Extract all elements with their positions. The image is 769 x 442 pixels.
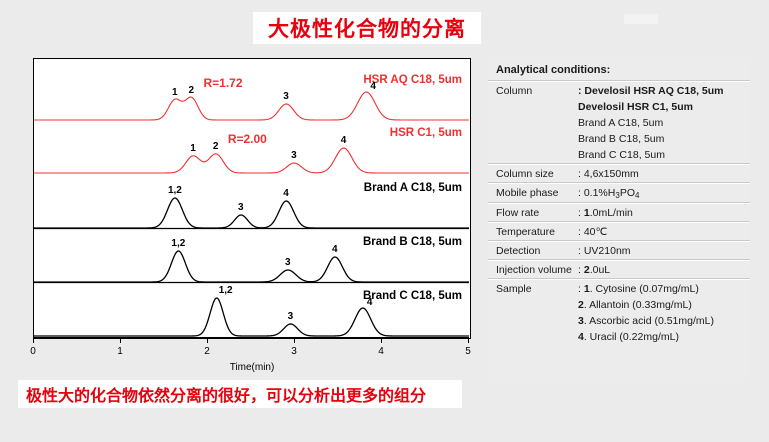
resolution-label-1: R=1.72 (203, 76, 242, 90)
peak-label: 1,2 (168, 185, 182, 196)
conditions-key (496, 315, 578, 327)
conditions-key: Column size (496, 168, 578, 180)
conditions-row: Temperature: 40℃ (488, 222, 750, 241)
conditions-value: : 4,6x150mm (578, 168, 750, 180)
conditions-value: 4. Uracil (0.22mg/mL) (578, 331, 750, 343)
axis-tick-mark (468, 338, 469, 343)
conditions-key: Detection (496, 245, 578, 257)
conditions-key (496, 299, 578, 311)
axis-tick-mark (33, 338, 34, 343)
conditions-row: 4. Uracil (0.22mg/mL) (488, 330, 750, 346)
conditions-row: Column: Develosil HSR AQ C18, 5um (488, 81, 750, 100)
conditions-value: Brand C C18, 5um (578, 149, 750, 161)
trace-line (34, 148, 469, 173)
conditions-value: : Develosil HSR AQ C18, 5um (578, 85, 750, 97)
trace-label-4: Brand B C18, 5um (363, 236, 462, 248)
peak-label: 4 (341, 135, 347, 146)
conditions-value: Brand A C18, 5um (578, 117, 750, 129)
conditions-row: 2. Allantoin (0.33mg/mL) (488, 298, 750, 314)
peak-label: 3 (288, 311, 294, 322)
page-caption: 极性大的化合物依然分离的很好，可以分析出更多的组分 (18, 382, 426, 406)
axis-tick-0: 0 (30, 346, 36, 357)
conditions-value: 3. Ascorbic acid (0.51mg/mL) (578, 315, 750, 327)
axis-tick-4: 4 (378, 346, 384, 357)
conditions-key: Column (496, 85, 578, 97)
conditions-value: 2. Allantoin (0.33mg/mL) (578, 299, 750, 311)
conditions-row: Brand A C18, 5um (488, 116, 750, 132)
conditions-row: Flow rate: 1.0mL/min (488, 203, 750, 222)
conditions-key (496, 331, 578, 343)
peak-label: 3 (285, 257, 291, 268)
peak-label: 2 (213, 141, 219, 152)
peak-label: 4 (283, 188, 289, 199)
conditions-row: Mobile phase: 0.1%H3PO4 (488, 183, 750, 203)
conditions-key (496, 117, 578, 129)
conditions-row: Detection: UV210nm (488, 241, 750, 260)
conditions-row: Column size: 4,6x150mm (488, 164, 750, 183)
trace-label-1: HSR AQ C18, 5um (363, 74, 462, 86)
conditions-row: Sample: 1. Cytosine (0.07mg/mL) (488, 279, 750, 298)
conditions-key (496, 101, 578, 113)
peak-label: 4 (367, 297, 373, 308)
axis-tick-mark (381, 338, 382, 343)
peak-label: 2 (188, 85, 194, 96)
conditions-rows: Column: Develosil HSR AQ C18, 5umDevelos… (488, 81, 750, 346)
conditions-row: 3. Ascorbic acid (0.51mg/mL) (488, 314, 750, 330)
conditions-row: Brand B C18, 5um (488, 132, 750, 148)
conditions-value: : 2.0uL (578, 264, 750, 276)
peak-label: 1,2 (219, 285, 233, 296)
trace-line (34, 198, 469, 228)
conditions-row: Injection volume: 2.0uL (488, 260, 750, 279)
conditions-row: Brand C C18, 5um (488, 148, 750, 164)
axis-baseline (33, 337, 469, 338)
conditions-value: : 1.0mL/min (578, 207, 750, 219)
conditions-key: Temperature (496, 226, 578, 238)
peak-label: 4 (332, 244, 338, 255)
peak-label: 3 (238, 202, 244, 213)
trace-line (34, 92, 469, 120)
chromatogram-chart: HSR AQ C18, 5umR=1.721234HSR C1, 5umR=2.… (33, 58, 471, 339)
page-title: 大极性化合物的分离 (268, 13, 466, 43)
conditions-value: : 0.1%H3PO4 (578, 187, 750, 200)
conditions-value: : 40℃ (578, 226, 750, 238)
conditions-key (496, 149, 578, 161)
trace-line (34, 298, 469, 336)
peak-label: 3 (291, 150, 297, 161)
trace-line (34, 251, 469, 282)
peak-label: 1,2 (171, 238, 185, 249)
resolution-label-2: R=2.00 (228, 132, 267, 146)
conditions-row: Develosil HSR C1, 5um (488, 100, 750, 116)
caption-banner: 极性大的化合物依然分离的很好，可以分析出更多的组分 (18, 380, 462, 408)
trace-label-3: Brand A C18, 5um (364, 182, 462, 194)
axis-tick-mark (120, 338, 121, 343)
conditions-value: : 1. Cytosine (0.07mg/mL) (578, 283, 750, 295)
conditions-key: Injection volume (496, 264, 578, 276)
conditions-value: Brand B C18, 5um (578, 133, 750, 145)
peak-label: 4 (370, 81, 376, 92)
conditions-key (496, 133, 578, 145)
conditions-key: Sample (496, 283, 578, 295)
peak-label: 1 (190, 143, 196, 154)
conditions-heading: Analytical conditions: (488, 58, 750, 81)
axis-tick-mark (294, 338, 295, 343)
axis-title: Time(min) (230, 362, 275, 373)
axis-tick-5: 5 (465, 346, 471, 357)
conditions-value: : UV210nm (578, 245, 750, 257)
trace-label-5: Brand C C18, 5um (363, 290, 462, 302)
conditions-value: Develosil HSR C1, 5um (578, 101, 750, 113)
axis-tick-mark (207, 338, 208, 343)
peak-label: 3 (283, 91, 289, 102)
axis-tick-2: 2 (204, 346, 210, 357)
title-banner: 大极性化合物的分离 (253, 12, 481, 44)
conditions-key: Flow rate (496, 207, 578, 219)
axis-tick-3: 3 (291, 346, 297, 357)
peak-label: 1 (172, 87, 178, 98)
time-axis: 012345 Time(min) (33, 338, 471, 378)
trace-label-2: HSR C1, 5um (390, 127, 462, 139)
axis-tick-1: 1 (117, 346, 123, 357)
conditions-key: Mobile phase (496, 187, 578, 200)
background-watermark (624, 14, 658, 24)
analytical-conditions-panel: Analytical conditions: Column: Develosil… (488, 58, 750, 378)
